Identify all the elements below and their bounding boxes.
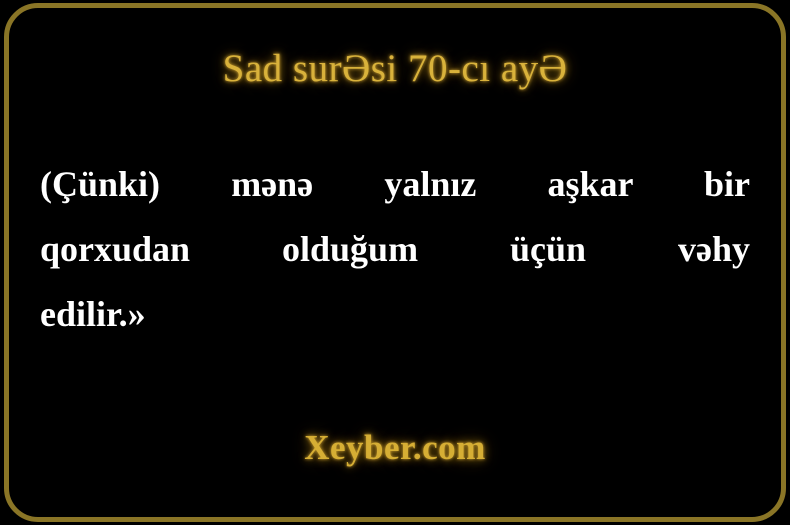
card-content: Sad surƏsi 70-cı ayƏ (Çünki) mənə yalnız… (0, 0, 790, 525)
verse-line: edilir.» (40, 282, 750, 347)
verse-line: (Çünki) mənə yalnız aşkar bir (40, 152, 750, 217)
watermark-site-name: Xeyber.com (0, 428, 790, 468)
verse-card: Sad surƏsi 70-cı ayƏ (Çünki) mənə yalnız… (0, 0, 790, 525)
verse-text: (Çünki) mənə yalnız aşkar bir qorxudan o… (40, 152, 750, 347)
page-title: Sad surƏsi 70-cı ayƏ (0, 46, 790, 91)
verse-line: qorxudan olduğum üçün vəhy (40, 217, 750, 282)
